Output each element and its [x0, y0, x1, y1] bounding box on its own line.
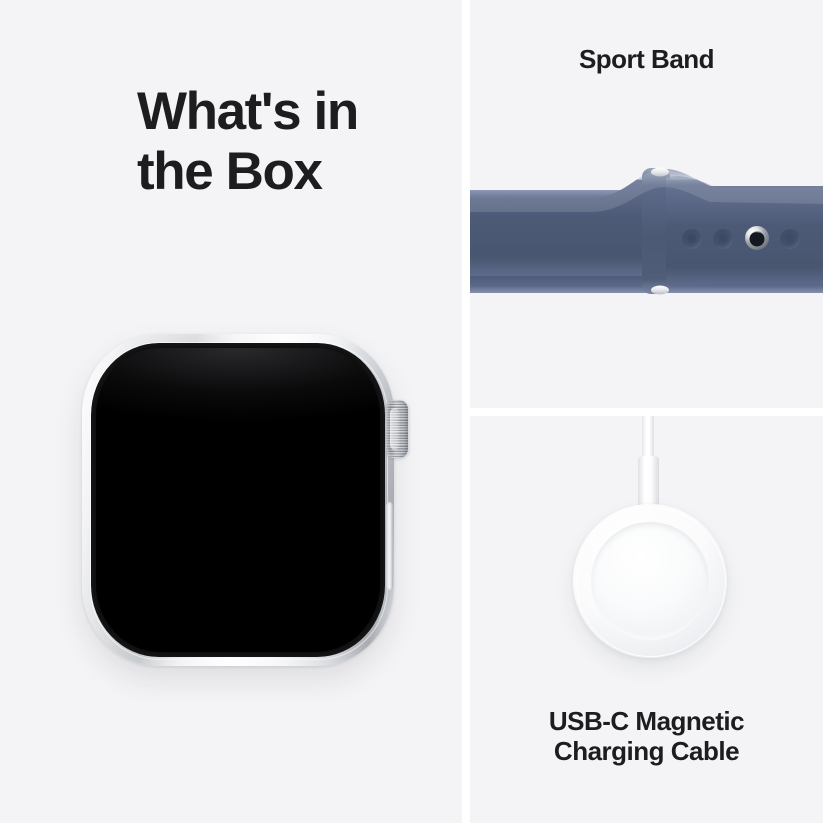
- apple-watch-panel: What's inthe Box: [0, 0, 462, 823]
- charging-cable-label: USB-C MagneticCharging Cable: [470, 706, 823, 767]
- page-title: What's inthe Box: [137, 82, 437, 203]
- watch-display: [96, 348, 380, 652]
- charging-cable-cord: [642, 416, 654, 458]
- apple-watch-product-image: [82, 334, 402, 666]
- sport-band-keeper-pin-bottom: [651, 286, 669, 295]
- charging-puck-magnet-face: [591, 522, 709, 640]
- charging-cable-panel: USB-C MagneticCharging Cable: [470, 416, 823, 823]
- charging-cable-label-line-2: Charging Cable: [554, 736, 739, 766]
- charging-cable-strain-relief: [638, 456, 659, 510]
- page-title-line-1: What's in: [137, 82, 358, 141]
- sport-band-panel: Sport Band: [470, 0, 823, 408]
- page-title-line-2: the Box: [137, 142, 322, 201]
- charging-cable-label-line-1: USB-C Magnetic: [549, 706, 744, 736]
- side-button-icon: [386, 502, 393, 590]
- sport-band-product-image: [470, 0, 823, 408]
- digital-crown-icon: [386, 400, 408, 458]
- charging-cable-product-image: [470, 416, 823, 716]
- whats-in-the-box-graphic: What's inthe Box Sport Band: [0, 0, 823, 823]
